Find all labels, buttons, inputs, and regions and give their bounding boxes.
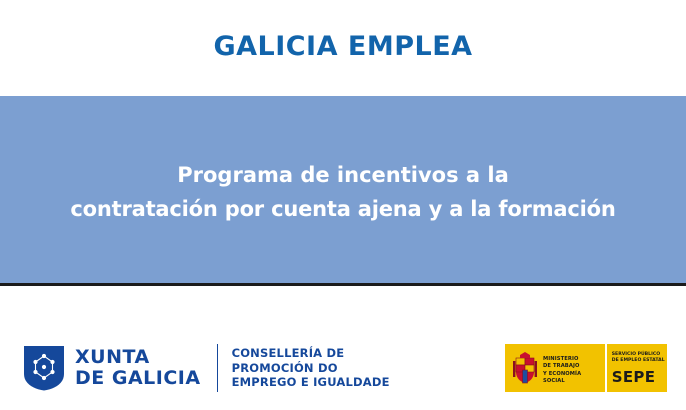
sepe-wordmark: SEPE [612, 368, 656, 386]
sepe-block: SERVICIO PÚBLICO DE EMPLEO ESTATAL SEPE [605, 344, 667, 392]
xunta-wordmark-line-2: DE GALICIA [75, 368, 201, 389]
ministerio-line-1: MINISTERIO [543, 356, 605, 363]
program-subtitle: Programa de incentivos a la contratación… [0, 158, 686, 226]
conselleria-text: CONSELLERÍA DE PROMOCIÓN DO EMPREGO E IG… [232, 346, 390, 390]
footer-logos: XUNTA DE GALICIA CONSELLERÍA DE PROMOCIÓ… [0, 286, 686, 410]
program-banner: Programa de incentivos a la contratación… [0, 96, 686, 283]
sepe-subtitle-line-2: DE EMPLEO ESTATAL [612, 358, 665, 364]
ministerio-line-3: Y ECONOMÍA SOCIAL [543, 371, 605, 386]
program-subtitle-line-1: Programa de incentivos a la [177, 163, 509, 187]
conselleria-line-1: CONSELLERÍA DE [232, 346, 390, 361]
ministerio-text: MINISTERIO DE TRABAJO Y ECONOMÍA SOCIAL [543, 356, 605, 386]
header-band: GALICIA EMPLEA [0, 0, 686, 96]
spain-coat-of-arms-icon [512, 352, 538, 384]
ministerio-block: MINISTERIO DE TRABAJO Y ECONOMÍA SOCIAL [505, 344, 605, 392]
xunta-divider [217, 344, 218, 392]
gobierno-de-espana-logo: MINISTERIO DE TRABAJO Y ECONOMÍA SOCIAL … [505, 344, 667, 392]
xunta-wordmark-line-1: XUNTA [75, 347, 201, 368]
conselleria-line-2: PROMOCIÓN DO [232, 361, 390, 376]
conselleria-line-3: EMPREGO E IGUALDADE [232, 375, 390, 390]
program-subtitle-line-2: contratación por cuenta ajena y a la for… [0, 192, 686, 226]
ministerio-line-2: DE TRABAJO [543, 363, 605, 370]
xunta-wordmark: XUNTA DE GALICIA [75, 347, 201, 389]
sepe-subtitle: SERVICIO PÚBLICO DE EMPLEO ESTATAL [612, 352, 665, 365]
xunta-de-galicia-logo: XUNTA DE GALICIA CONSELLERÍA DE PROMOCIÓ… [22, 344, 390, 392]
xunta-shield-icon [22, 344, 66, 392]
page-title: GALICIA EMPLEA [0, 31, 686, 62]
